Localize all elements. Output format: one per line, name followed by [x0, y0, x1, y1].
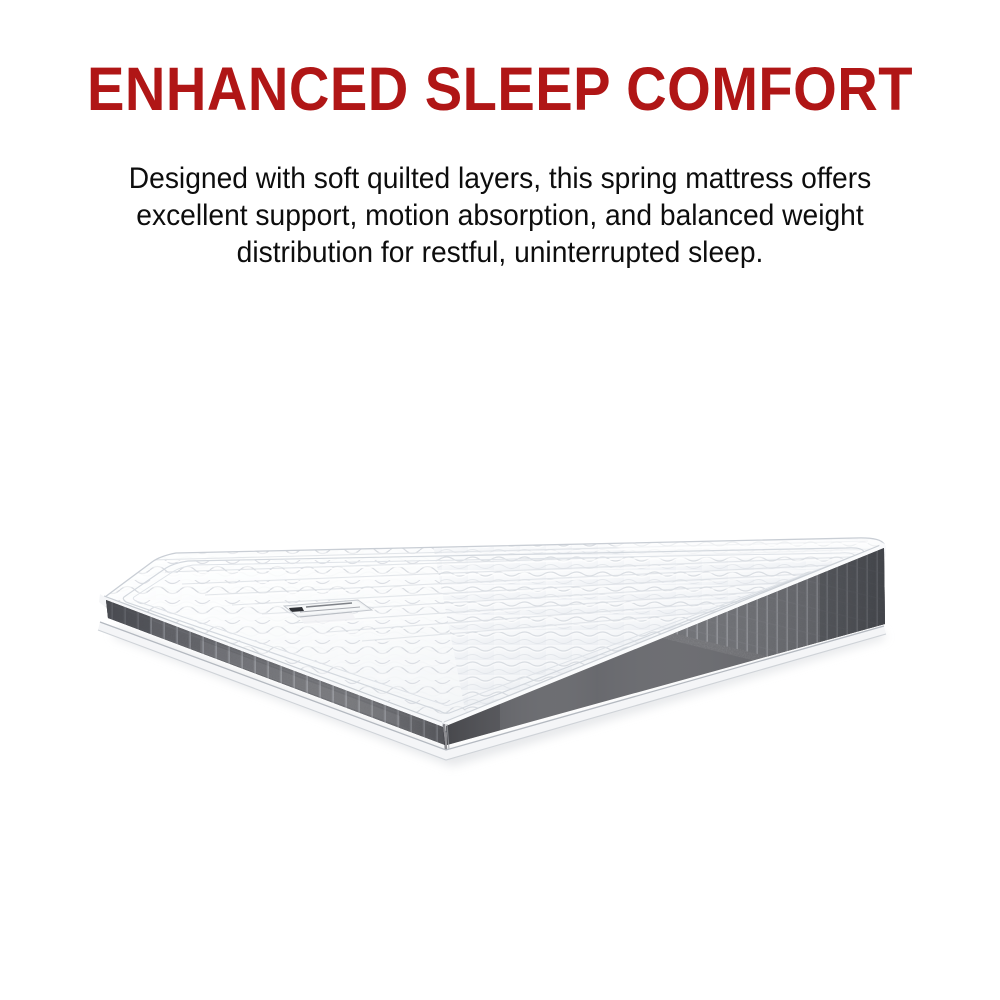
- description-line-3: distribution for restful, uninterrupted …: [86, 234, 913, 271]
- headline-container: ENHANCED SLEEP COMFORT: [0, 58, 1000, 120]
- description-text: Designed with soft quilted layers, this …: [86, 160, 913, 271]
- product-image-mattress: [0, 0, 1000, 1000]
- description-container: Designed with soft quilted layers, this …: [60, 160, 940, 271]
- description-line-2: excellent support, motion absorption, an…: [86, 197, 913, 234]
- product-feature-page: ENHANCED SLEEP COMFORT Designed with sof…: [0, 0, 1000, 1000]
- page-title: ENHANCED SLEEP COMFORT: [40, 58, 960, 120]
- description-line-1: Designed with soft quilted layers, this …: [86, 160, 913, 197]
